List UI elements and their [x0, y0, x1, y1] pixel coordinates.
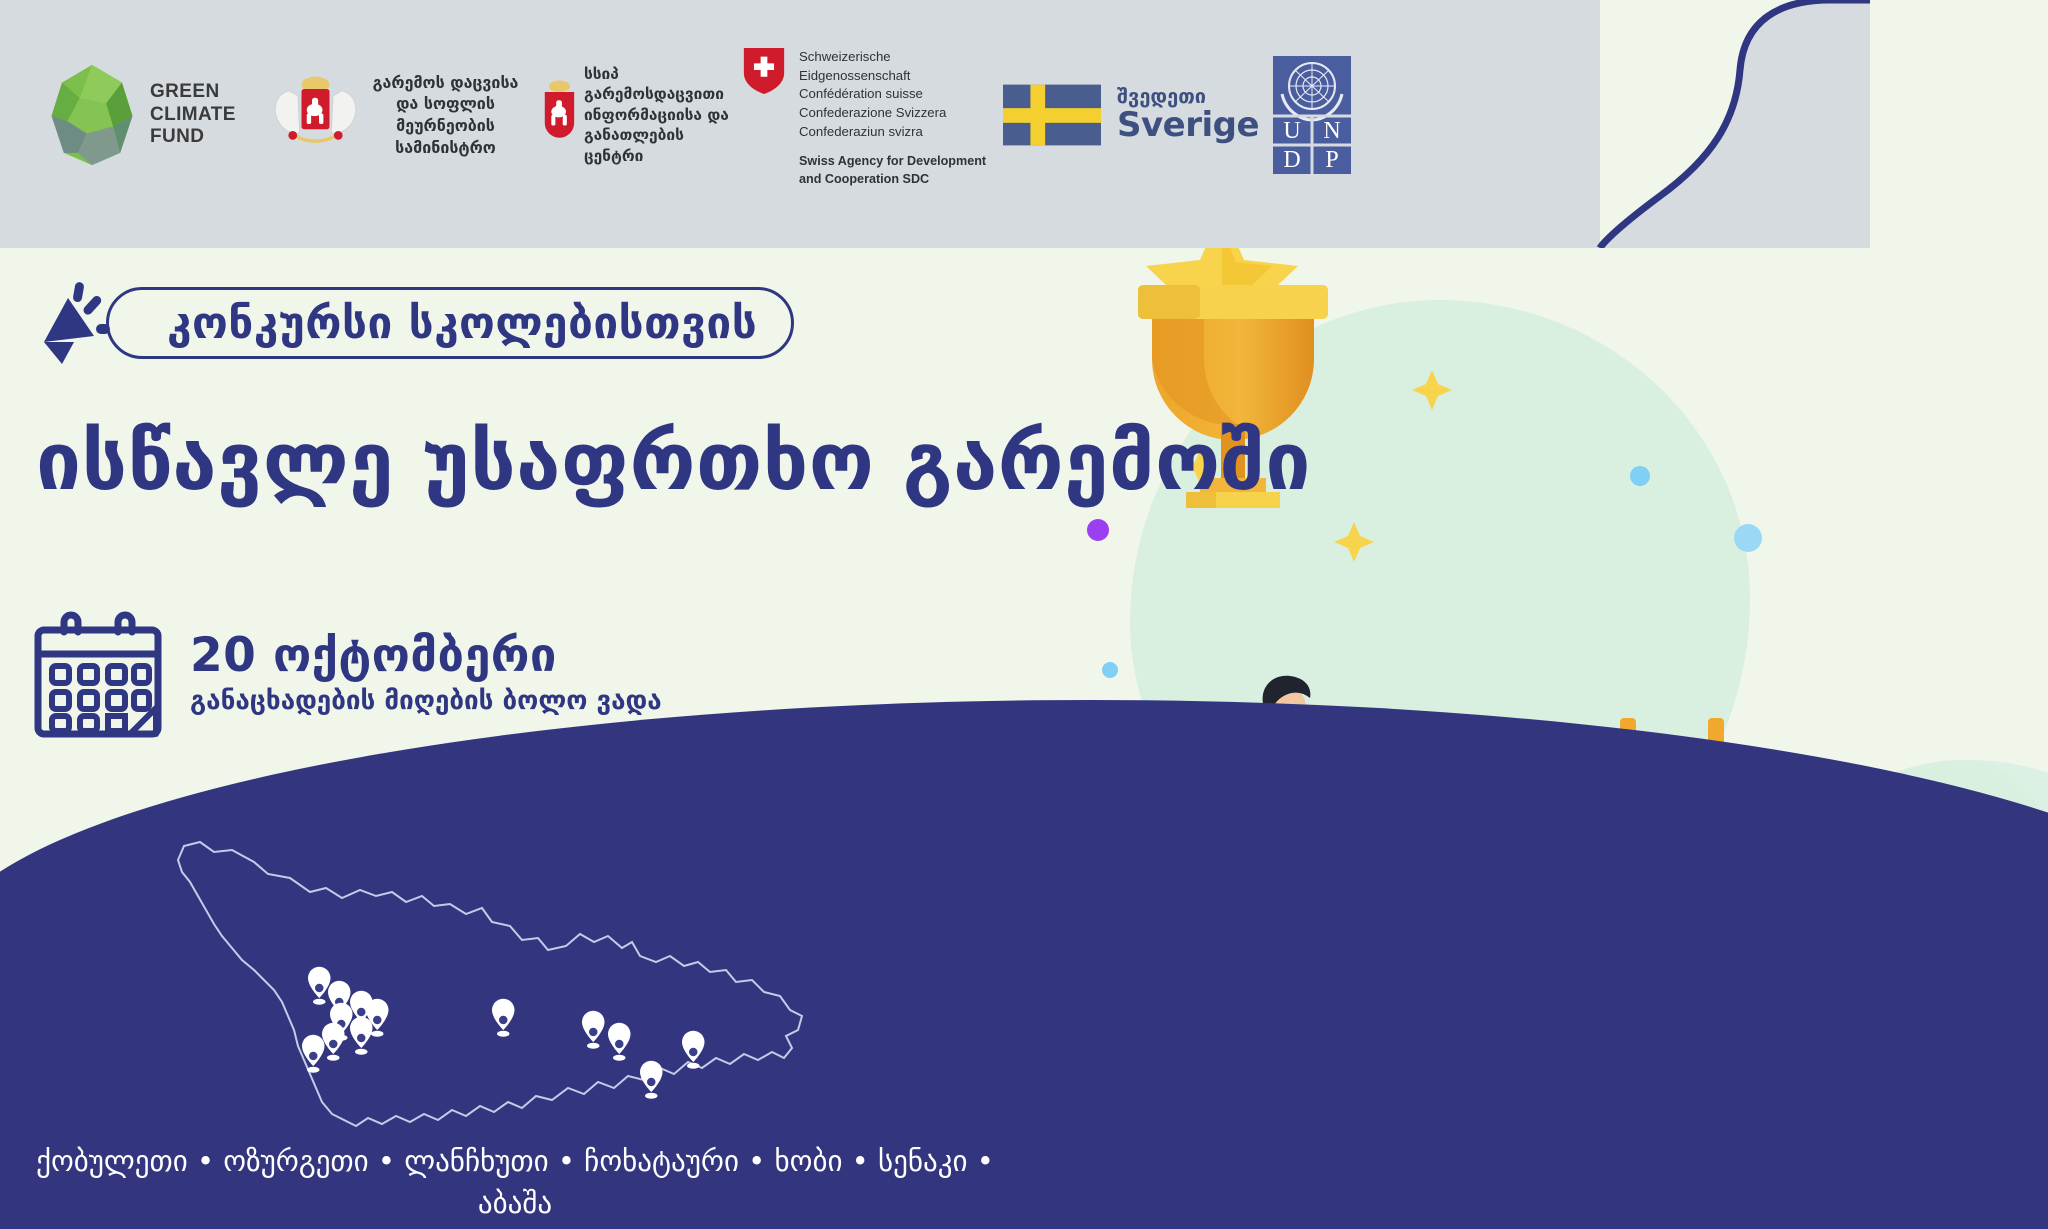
georgia-coat-of-arms-icon [535, 79, 584, 141]
cities-line-2: სამტრედია • გორი • თელავი • ახმეტა • სიღ… [0, 1224, 1030, 1229]
logo-undp: U N D P [1273, 56, 1353, 174]
cities-line-1: ქობულეთი • ოზურგეთი • ლანჩხუთი • ჩოხატაუ… [0, 1140, 1030, 1224]
competition-badge-label: კონკურსი სკოლებისთვის [106, 287, 794, 359]
undp-letter-n: N [1323, 118, 1340, 144]
swiss-line-rm: Confederaziun svizra [799, 123, 1003, 142]
gcf-wordmark: GREEN CLIMATE FUND [150, 81, 236, 148]
ministry-caption: გარემოს დაცვისა და სოფლის მეურნეობის სამ… [368, 72, 523, 158]
undp-letter-p: P [1325, 147, 1338, 173]
georgia-coat-of-arms-icon [263, 75, 368, 145]
deadline-block: 20 ოქტომბერი განაცხადების მიღების ბოლო ვ… [34, 608, 662, 740]
sweden-flag-icon [1003, 84, 1101, 146]
megaphone-icon [34, 280, 120, 366]
competition-badge: კონკურსი სკოლებისთვის [34, 280, 794, 366]
logo-green-climate-fund: GREEN CLIMATE FUND [48, 63, 263, 167]
logo-ministry-of-environment: გარემოს დაცვისა და სოფლის მეურნეობის სამ… [263, 72, 523, 158]
logo-swiss-confederation: Schweizerische Eidgenossenschaft Confédé… [743, 42, 1003, 188]
eiec-line-1: სსიპ გარემოსდაცვითი [584, 64, 743, 105]
eiec-line-2: ინფორმაციისა და [584, 105, 743, 125]
logo-environmental-information-education-centre: სსიპ გარემოსდაცვითი ინფორმაციისა და განა… [523, 64, 743, 166]
logo-sweden: შვედეთი Sverige [1003, 84, 1273, 146]
swiss-line-de: Schweizerische Eidgenossenschaft [799, 48, 1003, 85]
deadline-text: 20 ოქტომბერი განაცხადების მიღების ბოლო ვ… [190, 631, 662, 718]
poster-root: ქობულეთი • ოზურგეთი • ლანჩხუთი • ჩოხატაუ… [0, 0, 2048, 1229]
participating-cities-list: ქობულეთი • ოზურგეთი • ლანჩხუთი • ჩოხატაუ… [0, 1140, 1030, 1229]
calendar-icon [34, 608, 162, 740]
undp-letter-u: U [1283, 118, 1300, 144]
gcf-line-3: FUND [150, 126, 236, 148]
eiec-line-3: განათლების ცენტრი [584, 125, 743, 166]
decorative-dot [1102, 662, 1118, 678]
sdc-line-1: Swiss Agency for Development [799, 153, 1003, 170]
sweden-georgian: შვედეთი [1117, 85, 1259, 107]
sdc-line-2: and Cooperation SDC [799, 171, 1003, 188]
decorative-dot [1734, 524, 1762, 552]
deadline-date: 20 ოქტომბერი [190, 631, 662, 680]
deadline-caption: განაცხადების მიღების ბოლო ვადა [190, 686, 662, 717]
gcf-line-1: GREEN [150, 81, 236, 103]
eiec-caption: სსიპ გარემოსდაცვითი ინფორმაციისა და განა… [584, 64, 743, 166]
gem-icon [48, 63, 136, 167]
swiss-caption: Schweizerische Eidgenossenschaft Confédé… [799, 48, 1003, 188]
gcf-line-2: CLIMATE [150, 104, 236, 126]
partner-logos: GREEN CLIMATE FUND [0, 0, 1560, 230]
decorative-dot [1087, 519, 1109, 541]
ministry-line-2: მეურნეობის სამინისტრო [368, 115, 523, 158]
georgia-map [170, 830, 810, 1140]
swiss-line-it: Confederazione Svizzera [799, 104, 1003, 123]
map-pin-group [302, 967, 705, 1099]
page-title: ისწავლე უსაფრთხო გარემოში [36, 415, 1311, 508]
swiss-shield-icon [743, 48, 785, 94]
undp-letter-d: D [1283, 147, 1300, 173]
sweden-latin: Sverige [1117, 107, 1259, 144]
decorative-dot [1630, 466, 1650, 486]
sweden-wordmark: შვედეთი Sverige [1117, 85, 1259, 144]
ministry-line-1: გარემოს დაცვისა და სოფლის [368, 72, 523, 115]
swiss-line-fr: Confédération suisse [799, 85, 1003, 104]
un-emblem-icon: U N D P [1273, 56, 1351, 174]
